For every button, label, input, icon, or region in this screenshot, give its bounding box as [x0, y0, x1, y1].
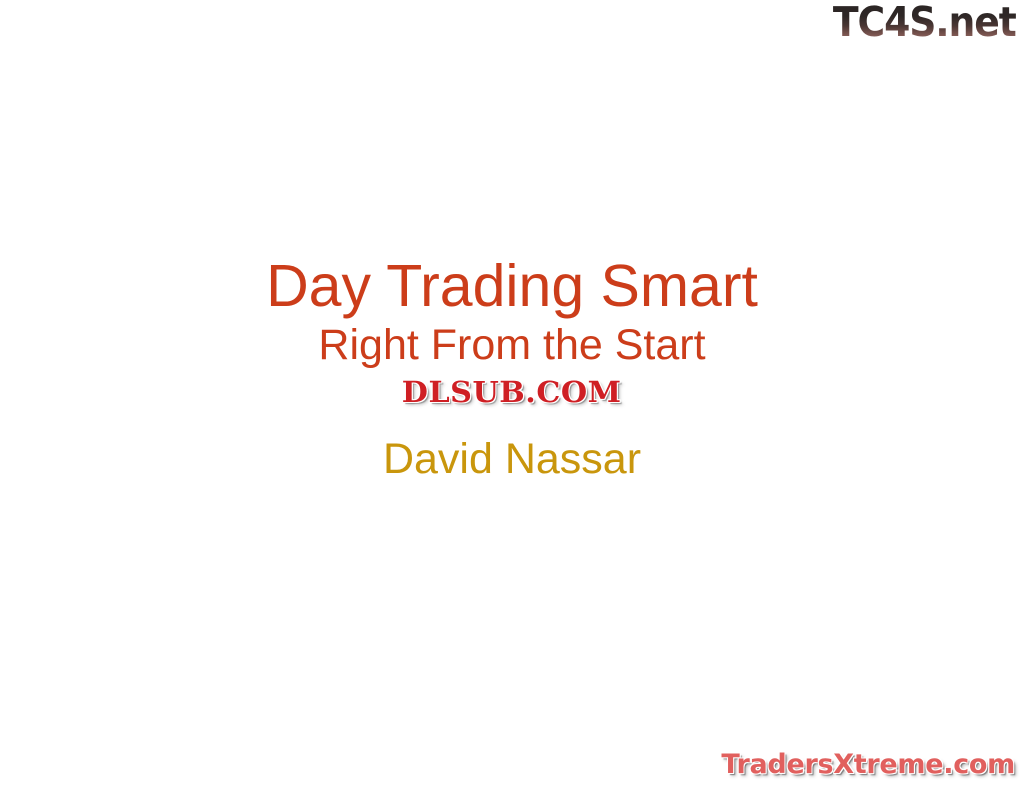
author-block: David Nassar: [0, 434, 1024, 484]
dlsub-watermark-text: DLSUB.COM: [402, 377, 622, 407]
tradersxtreme-watermark-text: TradersXtreme.com: [721, 750, 1015, 780]
page-subtitle: Right From the Start: [0, 320, 1024, 370]
presentation-slide: TC4S.net Day Trading Smart Right From th…: [0, 0, 1024, 791]
title-block: Day Trading Smart Right From the Start: [0, 252, 1024, 370]
author-name: David Nassar: [0, 434, 1024, 484]
tc4s-logo: TC4S.net: [833, 2, 1016, 43]
dlsub-watermark: DLSUB.COM: [0, 377, 1024, 407]
page-title: Day Trading Smart: [0, 252, 1024, 320]
tradersxtreme-watermark: TradersXtreme.com: [721, 750, 1015, 780]
